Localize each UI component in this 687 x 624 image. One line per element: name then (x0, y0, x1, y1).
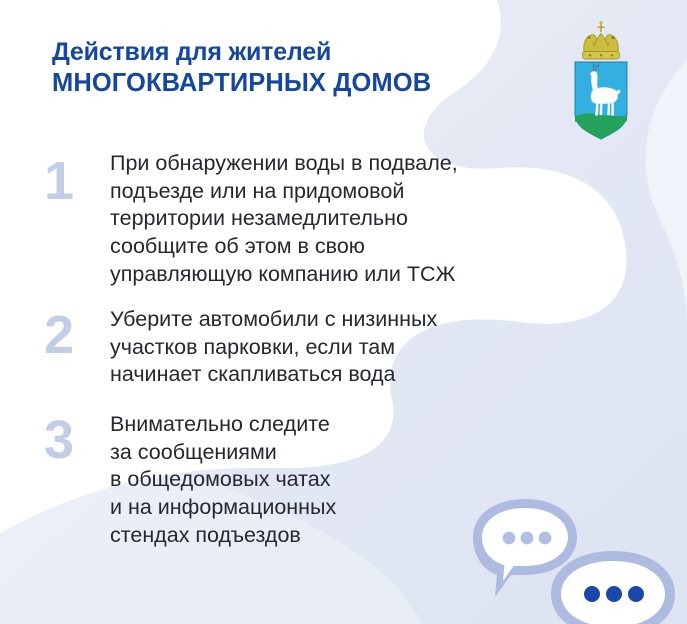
step-text-2: Уберите автомобили с низинных участков п… (62, 306, 687, 389)
step-text-3: Внимательно следите за сообщениями в общ… (62, 411, 687, 549)
step-item-2: 2 Уберите автомобили с низинных участков… (0, 306, 687, 389)
step-number-3: 3 (0, 411, 62, 466)
step-item-1: 1 При обнаружении воды в подвале, подъез… (0, 150, 687, 288)
poster-header: Действия для жителей МНОГОКВАРТИРНЫХ ДОМ… (52, 38, 522, 98)
shield-icon (575, 62, 627, 139)
step-number-2: 2 (0, 306, 62, 361)
title-line-2: МНОГОКВАРТИРНЫХ ДОМОВ (52, 68, 522, 98)
crown-icon (583, 21, 620, 59)
bubble-dot (584, 586, 600, 602)
samara-coat-of-arms-icon (561, 18, 641, 142)
bubble-dot (606, 586, 622, 602)
step-number-1: 1 (0, 150, 62, 207)
title-line-1: Действия для жителей (52, 38, 522, 68)
steps-list: 1 При обнаружении воды в подвале, подъез… (0, 150, 687, 549)
bubble-dot (628, 586, 644, 602)
step-text-1: При обнаружении воды в подвале, подъезде… (62, 150, 687, 288)
chat-bubble-front (551, 551, 675, 624)
poster-canvas: Действия для жителей МНОГОКВАРТИРНЫХ ДОМ… (0, 0, 687, 624)
step-item-3: 3 Внимательно следите за сообщениями в о… (0, 411, 687, 549)
